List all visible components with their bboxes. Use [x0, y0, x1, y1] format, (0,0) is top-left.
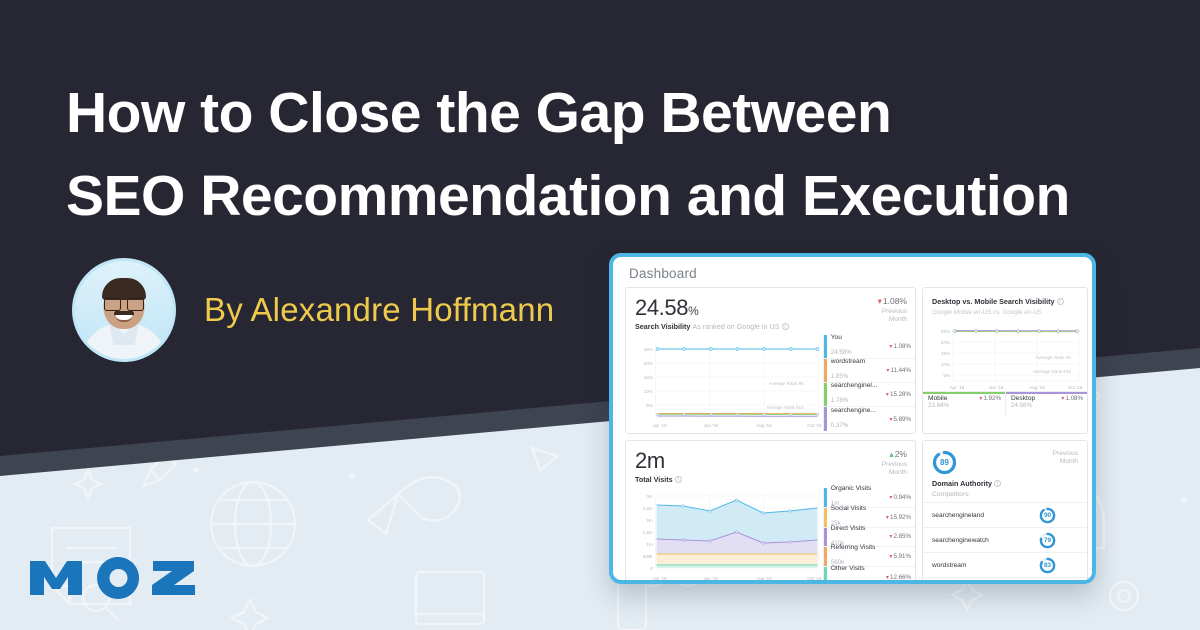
da-title: Domain Authority i — [932, 479, 1078, 488]
legend-name: searchengine... — [831, 407, 890, 414]
dm-stat-name: Mobile — [928, 395, 949, 402]
tv-label: Total Visits — [635, 475, 673, 484]
total-visits-delta: 2% Previous Month — [882, 449, 907, 477]
total-visits-label-row: Total Visits i — [635, 475, 907, 484]
da-previous-month: Previous Month — [1053, 450, 1078, 467]
da-competitor-row[interactable]: wordstream 83 — [923, 552, 1087, 577]
total-visits-chart[interactable]: 3m2.5m 2m1.5m 1m500k 0 Apr '19Jun '19 Au… — [626, 488, 823, 584]
legend-name: You — [831, 334, 890, 341]
dm-subtitle: Google Mobile en-US vs. Google en-US — [932, 309, 1079, 316]
svg-text:3m: 3m — [646, 494, 652, 499]
tv-delta-period: Previous Month — [882, 461, 907, 477]
svg-text:25%: 25% — [644, 347, 653, 352]
svg-text:Aug '19: Aug '19 — [756, 423, 772, 428]
search-visibility-header: 24.58% Search Visibility As ranked on Go… — [626, 288, 915, 335]
dashboard-grid: 24.58% Search Visibility As ranked on Go… — [613, 287, 1092, 584]
svg-text:Aug '19: Aug '19 — [1029, 385, 1045, 390]
author-byline-row: By Alexandre Hoffmann — [72, 258, 554, 362]
da-competitor-score: 90 — [1039, 507, 1056, 524]
search-visibility-legend: You 24.58% 1.08% wordstream 1.85% 11.44% — [823, 335, 915, 431]
da-competitor-row[interactable]: searchengineland 90 — [923, 502, 1087, 527]
svg-text:Apr '19: Apr '19 — [652, 576, 667, 581]
legend-name: Direct Visits — [831, 525, 890, 532]
legend-value: 1.85% — [831, 373, 849, 380]
svg-text:Average Rank #5: Average Rank #5 — [1036, 355, 1072, 360]
svg-text:Oct '19: Oct '19 — [807, 576, 822, 581]
sv-delta-value: 1.08% — [878, 296, 907, 307]
legend-delta: 15.28% — [886, 391, 911, 398]
legend-color-swatch — [824, 567, 827, 584]
sv-label: Search Visibility — [635, 322, 690, 331]
svg-text:Average Rank #5: Average Rank #5 — [769, 381, 804, 386]
info-icon[interactable]: i — [1057, 298, 1064, 305]
svg-text:Average Rank #10: Average Rank #10 — [1033, 369, 1071, 374]
legend-delta: 15.92% — [886, 514, 911, 521]
total-visits-body: 3m2.5m 2m1.5m 1m500k 0 Apr '19Jun '19 Au… — [626, 488, 915, 584]
svg-text:1.5m: 1.5m — [643, 530, 653, 535]
card-domain-authority[interactable]: Previous Month 89 Domain Authority i Com… — [922, 440, 1088, 584]
sv-sublabel: As ranked on Google in US — [692, 322, 779, 331]
legend-item[interactable]: Other Visits 213k 12.66% — [824, 567, 915, 584]
legend-color-swatch — [824, 407, 827, 431]
search-visibility-body: 25%20% 15%10% 5% Apr '19Jun '19 Aug '19O… — [626, 335, 915, 431]
dashboard-device-frame: Dashboard 24.58% Search Visibility As ra… — [609, 253, 1096, 584]
sv-number: 24.58 — [635, 295, 688, 320]
da-header: Previous Month 89 Domain Authority i Com… — [923, 441, 1087, 502]
title-line-2: SEO Recommendation and Execution — [66, 155, 1126, 238]
total-visits-header: 2m Total Visits i 2% Previous Month — [626, 441, 915, 488]
legend-delta: 0.94% — [889, 494, 911, 501]
da-competitor-ring: 83 — [1039, 557, 1056, 574]
page-title: How to Close the Gap Between SEO Recomme… — [66, 72, 1126, 238]
svg-text:15%: 15% — [941, 351, 950, 356]
legend-color-swatch — [824, 335, 827, 358]
dm-stat-desktop[interactable]: Desktop 24.58% 1.08% — [1005, 392, 1087, 417]
dm-stats-row: Mobile 23.84% 1.92% Desktop 24.58% 1.08% — [923, 391, 1087, 417]
total-visits-legend: Organic Visits 1m 0.94% Social Visits 25… — [823, 488, 915, 584]
tv-delta-value: 2% — [882, 449, 907, 460]
svg-text:Apr '19: Apr '19 — [950, 385, 965, 390]
svg-text:1m: 1m — [646, 542, 652, 547]
dm-accent-bar — [923, 392, 1005, 394]
legend-item[interactable]: searchengine... 0.37% 5.89% — [824, 407, 915, 431]
info-icon[interactable]: i — [994, 480, 1001, 487]
legend-delta: 11.44% — [886, 367, 911, 374]
svg-text:Apr '19: Apr '19 — [652, 423, 667, 428]
svg-text:Jun '19: Jun '19 — [989, 385, 1004, 390]
legend-value: 1.78% — [831, 397, 849, 404]
dm-header: Desktop vs. Mobile Search Visibility i G… — [923, 288, 1087, 319]
svg-text:Aug '19: Aug '19 — [756, 576, 772, 581]
legend-color-swatch — [824, 488, 827, 507]
da-score-value: 89 — [932, 450, 957, 475]
dm-stat-name: Desktop — [1011, 395, 1035, 402]
total-visits-value: 2m — [635, 448, 907, 474]
svg-text:2.5m: 2.5m — [643, 506, 653, 511]
legend-name: searchenginel... — [831, 382, 886, 389]
svg-text:5%: 5% — [943, 373, 950, 378]
svg-text:Jun '19: Jun '19 — [704, 423, 719, 428]
card-search-visibility[interactable]: 24.58% Search Visibility As ranked on Go… — [625, 287, 916, 434]
author-name: By Alexandre Hoffmann — [204, 291, 554, 329]
title-line-1: How to Close the Gap Between — [66, 81, 891, 145]
legend-item[interactable]: You 24.58% 1.08% — [824, 335, 915, 359]
legend-delta: 5.89% — [889, 416, 911, 423]
svg-text:10%: 10% — [941, 362, 950, 367]
sv-delta-period: Previous Month — [878, 308, 907, 324]
avatar — [72, 258, 176, 362]
card-total-visits[interactable]: 2m Total Visits i 2% Previous Month — [625, 440, 916, 584]
legend-name: Organic Visits — [831, 485, 890, 492]
legend-name: Other Visits — [831, 565, 886, 572]
da-competitor-ring: 90 — [1039, 507, 1056, 524]
svg-text:500k: 500k — [643, 554, 654, 559]
svg-text:25%: 25% — [941, 329, 950, 334]
dm-stat-value: 23.84% — [928, 402, 949, 409]
moz-logo — [28, 543, 203, 601]
dm-stat-delta: 1.92% — [979, 395, 1001, 402]
svg-text:Oct '19: Oct '19 — [807, 423, 822, 428]
svg-text:20%: 20% — [941, 340, 950, 345]
legend-name: Referring Visits — [831, 544, 890, 551]
da-competitor-row[interactable]: searchenginewatch 79 — [923, 527, 1087, 552]
avatar-hair — [102, 278, 146, 300]
svg-text:Average Rank #10: Average Rank #10 — [766, 405, 804, 410]
legend-color-swatch — [824, 359, 827, 382]
da-competitor-name: searchenginewatch — [932, 537, 1039, 544]
glasses-icon — [104, 298, 144, 309]
legend-value: 0.37% — [831, 422, 849, 429]
dm-stat-mobile[interactable]: Mobile 23.84% 1.92% — [923, 392, 1005, 417]
dm-stat-delta: 1.08% — [1061, 395, 1083, 402]
search-visibility-chart[interactable]: 25%20% 15%10% 5% Apr '19Jun '19 Aug '19O… — [626, 335, 823, 431]
legend-name: Social Visits — [831, 505, 886, 512]
da-competitor-name: wordstream — [932, 562, 1039, 569]
dm-accent-bar — [1006, 392, 1087, 394]
legend-item[interactable]: searchenginel... 1.78% 15.28% — [824, 383, 915, 407]
legend-color-swatch — [824, 383, 827, 406]
legend-value: 24.58% — [831, 349, 852, 356]
svg-text:10%: 10% — [644, 389, 653, 394]
legend-delta: 12.66% — [886, 574, 911, 581]
legend-value: 213k — [831, 580, 844, 584]
legend-item[interactable]: wordstream 1.85% 11.44% — [824, 359, 915, 383]
svg-text:5%: 5% — [646, 403, 653, 408]
svg-text:0: 0 — [650, 566, 653, 571]
svg-text:15%: 15% — [644, 375, 653, 380]
card-desktop-vs-mobile[interactable]: Desktop vs. Mobile Search Visibility i G… — [922, 287, 1088, 434]
legend-delta: 1.08% — [889, 343, 911, 350]
svg-text:2m: 2m — [646, 518, 652, 523]
svg-text:Jun '19: Jun '19 — [704, 576, 719, 581]
info-icon[interactable]: i — [675, 476, 682, 483]
da-score-ring: 89 — [932, 450, 957, 475]
da-competitor-score: 83 — [1039, 557, 1056, 574]
search-visibility-label-row: Search Visibility As ranked on Google in… — [635, 322, 907, 331]
legend-color-swatch — [824, 528, 827, 547]
da-footer: Updated daily — [923, 577, 1087, 584]
da-competitor-score: 79 — [1039, 532, 1056, 549]
da-competitor-name: searchengineland — [932, 512, 1039, 519]
dm-chart[interactable]: 25%20% 15%10% 5% Apr '19Jun '19 Aug '19O… — [923, 319, 1087, 391]
legend-name: wordstream — [831, 358, 887, 365]
da-competitors-label: Competitors — [932, 491, 1078, 498]
svg-text:20%: 20% — [644, 361, 653, 366]
legend-color-swatch — [824, 547, 827, 566]
da-competitor-ring: 79 — [1039, 532, 1056, 549]
dm-stat-value: 24.58% — [1011, 402, 1035, 409]
search-visibility-delta: 1.08% Previous Month — [878, 296, 907, 324]
dm-title: Desktop vs. Mobile Search Visibility i — [932, 297, 1079, 306]
info-icon[interactable]: i — [782, 323, 789, 330]
legend-color-swatch — [824, 508, 827, 527]
legend-delta: 5.91% — [889, 553, 911, 560]
search-visibility-value: 24.58% — [635, 295, 907, 321]
dashboard-heading: Dashboard — [613, 257, 1092, 287]
sv-unit: % — [688, 304, 698, 318]
legend-delta: 2.85% — [889, 533, 911, 540]
svg-text:Oct '19: Oct '19 — [1068, 385, 1083, 390]
